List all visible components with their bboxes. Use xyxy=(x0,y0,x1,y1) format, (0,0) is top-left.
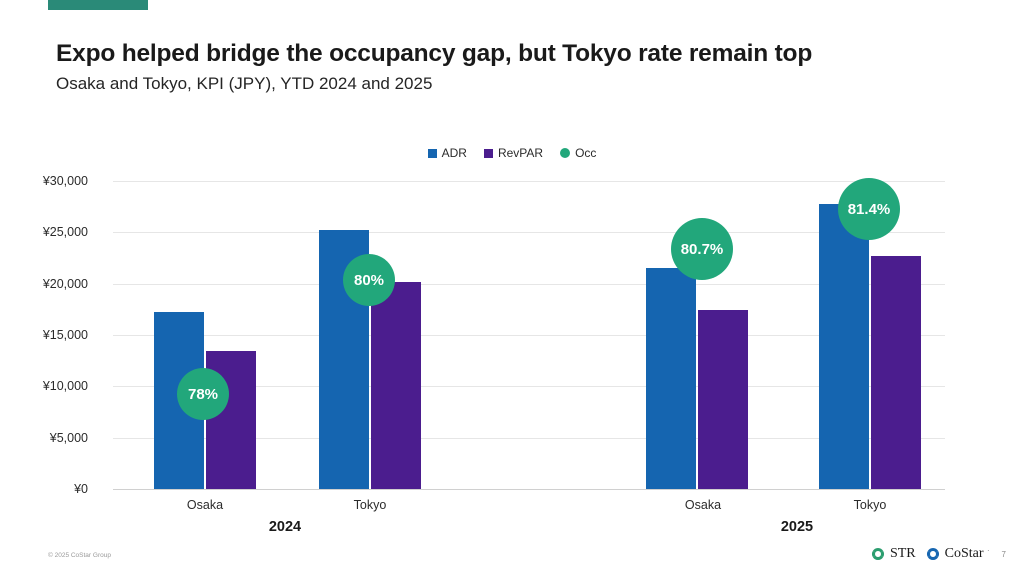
str-pinwheel-icon xyxy=(870,546,886,562)
occupancy-bubble[interactable]: 78% xyxy=(177,368,229,420)
y-axis-tick-label: ¥20,000 xyxy=(0,277,88,291)
legend-swatch-occ-icon xyxy=(560,148,570,158)
slide: Expo helped bridge the occupancy gap, bu… xyxy=(0,0,1024,576)
bar-revpar[interactable] xyxy=(698,310,748,489)
chart-plot-area xyxy=(113,181,945,489)
y-axis-tick-label: ¥25,000 xyxy=(0,225,88,239)
legend-label: Occ xyxy=(575,146,596,160)
bar-adr[interactable] xyxy=(646,268,696,489)
legend-item-revpar[interactable]: RevPAR xyxy=(484,146,543,160)
legend-swatch-adr-icon xyxy=(428,149,437,158)
costar-pinwheel-icon xyxy=(925,546,941,562)
legend-label: RevPAR xyxy=(498,146,543,160)
legend-item-adr[interactable]: ADR xyxy=(428,146,467,160)
legend-swatch-revpar-icon xyxy=(484,149,493,158)
page-number: 7 xyxy=(1002,550,1006,559)
gridline xyxy=(113,181,945,182)
legend-item-occ[interactable]: Occ xyxy=(560,146,596,160)
x-axis-category-label: Osaka xyxy=(187,498,223,512)
occupancy-bubble[interactable]: 80.7% xyxy=(671,218,733,280)
y-axis-labels: ¥0¥5,000¥10,000¥15,000¥20,000¥25,000¥30,… xyxy=(0,181,100,489)
bar-revpar[interactable] xyxy=(371,282,421,489)
x-axis-category-label: Osaka xyxy=(685,498,721,512)
x-axis-group-label: 2024 xyxy=(269,519,301,535)
occupancy-bubble[interactable]: 80% xyxy=(343,254,395,306)
bar-revpar[interactable] xyxy=(871,256,921,489)
costar-trademark: ´ xyxy=(988,551,990,557)
costar-logo-text: CoStar xyxy=(945,546,984,562)
x-axis-category-label: Tokyo xyxy=(854,498,887,512)
legend-label: ADR xyxy=(442,146,467,160)
str-logo-text: STR xyxy=(890,546,916,562)
chart-legend: ADRRevPAROcc xyxy=(0,146,1024,160)
x-axis-group-label: 2025 xyxy=(781,519,813,535)
gridline xyxy=(113,489,945,490)
x-axis-category-label: Tokyo xyxy=(354,498,387,512)
footer-logos: STR CoStar ´ 7 xyxy=(870,546,1006,562)
page-subtitle: Osaka and Tokyo, KPI (JPY), YTD 2024 and… xyxy=(56,74,432,94)
y-axis-tick-label: ¥10,000 xyxy=(0,379,88,393)
y-axis-tick-label: ¥0 xyxy=(0,482,88,496)
y-axis-tick-label: ¥5,000 xyxy=(0,431,88,445)
page-title: Expo helped bridge the occupancy gap, bu… xyxy=(56,40,812,68)
bar-adr[interactable] xyxy=(819,204,869,489)
y-axis-tick-label: ¥30,000 xyxy=(0,174,88,188)
occupancy-bubble[interactable]: 81.4% xyxy=(838,178,900,240)
accent-bar xyxy=(48,0,148,10)
footer-copyright: © 2025 CoStar Group xyxy=(48,552,111,559)
str-logo: STR xyxy=(870,546,916,562)
y-axis-tick-label: ¥15,000 xyxy=(0,328,88,342)
costar-logo: CoStar ´ xyxy=(925,546,990,562)
